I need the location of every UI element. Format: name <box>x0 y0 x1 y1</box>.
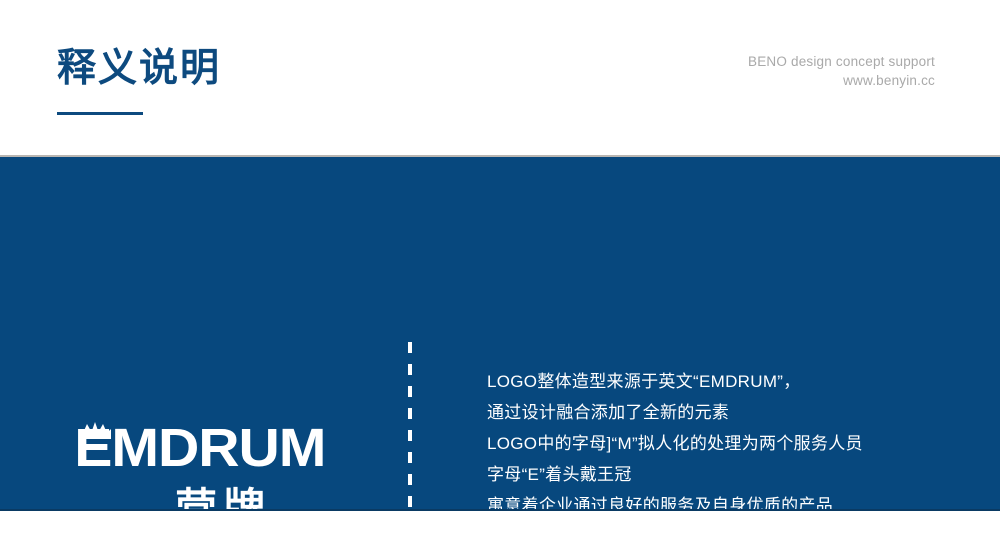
description-line: 终会成为企业中的王者 <box>487 521 957 544</box>
description-line: 字母“E”着头戴王冠 <box>487 459 957 490</box>
content-panel: EMDRUM 营牌 LOGO整体造型来源于英文“EMDRUM”， 通过设计融合添… <box>0 157 1000 509</box>
title-underline-rule <box>57 112 143 115</box>
slide-canvas: 释义说明 BENO design concept support www.ben… <box>0 0 1000 544</box>
page-title: 释义说明 <box>57 48 221 91</box>
description-line: 寓意着企业通过良好的服务及自身优质的产品 <box>487 490 957 521</box>
description-line: 通过设计融合添加了全新的元素 <box>487 397 957 428</box>
header-credit-block: BENO design concept support www.benyin.c… <box>748 52 935 90</box>
description-line: LOGO中的字母]“M”拟人化的处理为两个服务人员 <box>487 428 957 459</box>
vertical-dashed-divider <box>408 342 412 544</box>
crown-icon <box>78 422 112 439</box>
logo-wordmark: EMDRUM <box>70 419 388 477</box>
description-text-block: LOGO整体造型来源于英文“EMDRUM”， 通过设计融合添加了全新的元素 LO… <box>487 366 957 544</box>
description-line: LOGO整体造型来源于英文“EMDRUM”， <box>487 366 957 397</box>
brand-logo-lockup: EMDRUM 营牌 <box>70 419 370 533</box>
header-credit-line-1: BENO design concept support <box>748 52 935 71</box>
header-credit-line-2: www.benyin.cc <box>748 71 935 90</box>
panel-bottom-divider <box>0 509 1000 511</box>
